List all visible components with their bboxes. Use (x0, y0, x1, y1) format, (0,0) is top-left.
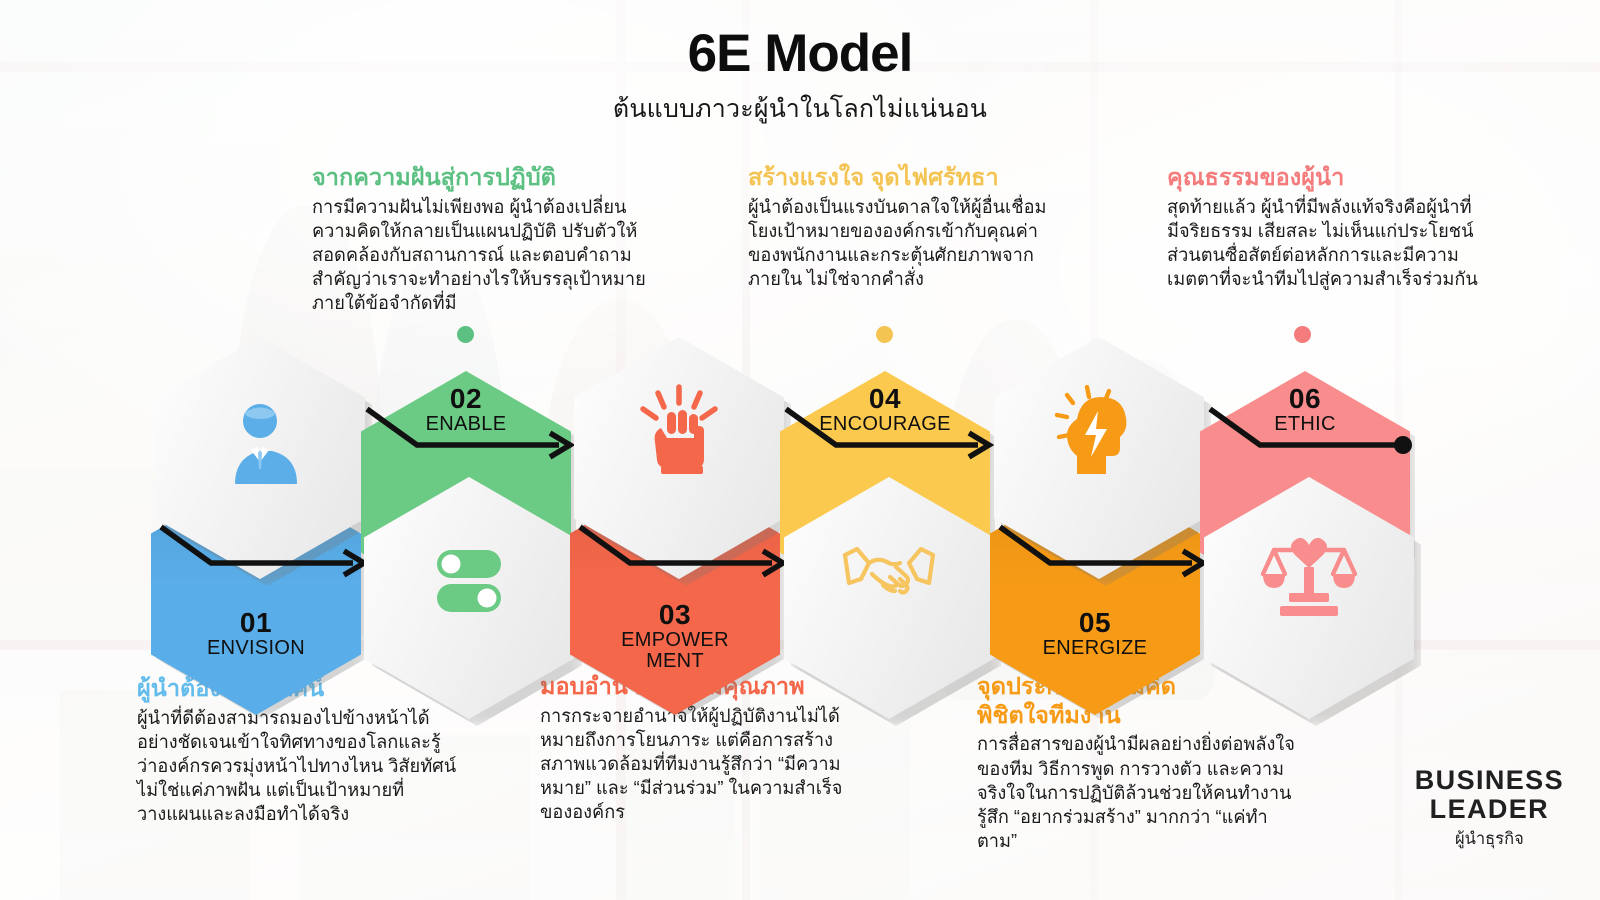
hex-04-name: ENCOURAGE (780, 414, 990, 435)
hex-01-label: 01 ENVISION (151, 609, 361, 659)
dot-02 (457, 326, 474, 343)
heart-scales-icon (1204, 529, 1414, 617)
dot-04 (876, 326, 893, 343)
text-body-02: การมีความฝันไม่เพียงพอ ผู้นำต้องเปลี่ยนค… (312, 195, 660, 316)
hex-03-name: EMPOWER (570, 630, 780, 651)
page-subtitle: ต้นแบบภาวะผู้นำในโลกไม่แน่นอน (0, 89, 1600, 129)
infographic-canvas: 6E Model ต้นแบบภาวะผู้นำในโลกไม่แน่นอน จ… (0, 0, 1600, 900)
text-body-04: ผู้นำต้องเป็นแรงบันดาลใจให้ผู้อื่นเชื่อม… (748, 195, 1070, 292)
title-block: 6E Model ต้นแบบภาวะผู้นำในโลกไม่แน่นอน (0, 26, 1600, 129)
logo-line-3: ผู้นำธุรกิจ (1415, 826, 1564, 852)
text-body-03: การกระจายอำนาจให้ผู้ปฏิบัติงานไม่ได้หมาย… (540, 704, 858, 825)
text-block-06: คุณธรรมของผู้นำ สุดท้ายแล้ว ผู้นำที่มีพล… (1167, 163, 1479, 291)
hex-03-number: 03 (570, 601, 780, 630)
text-heading-04: สร้างแรงใจ จุดไฟศรัทธา (748, 163, 1070, 192)
text-body-05: การสื่อสารของผู้นำมีผลอย่างยิ่งต่อพลังใจ… (977, 732, 1295, 853)
toggle-switches-icon (364, 532, 574, 616)
logo-line-2: LEADER (1415, 795, 1564, 824)
hex-03-label: 03 EMPOWER MENT (570, 601, 780, 672)
businessman-icon (155, 400, 365, 484)
hex-02-name: ENABLE (361, 414, 571, 435)
text-heading-02: จากความฝันสู่การปฏิบัติ (312, 163, 660, 192)
page-title: 6E Model (0, 26, 1600, 82)
text-block-02: จากความฝันสู่การปฏิบัติ การมีความฝันไม่เ… (312, 163, 660, 316)
handshake-icon (784, 539, 994, 601)
hex-06-name: ETHIC (1200, 414, 1410, 435)
hex-05-number: 05 (990, 609, 1200, 638)
text-block-05: จุดประกายความคิด พิชิตใจทีมงาน การสื่อสา… (977, 672, 1295, 853)
text-body-01: ผู้นำที่ดีต้องสามารถมองไปข้างหน้าได้อย่า… (137, 706, 457, 827)
text-body-06: สุดท้ายแล้ว ผู้นำที่มีพลังแท้จริงคือผู้น… (1167, 195, 1479, 292)
hex-01-number: 01 (151, 609, 361, 638)
dot-06 (1294, 326, 1311, 343)
raised-fist-icon (574, 384, 784, 480)
lightbulb-head-icon (994, 385, 1204, 477)
hex-01-name: ENVISION (151, 638, 361, 659)
text-block-04: สร้างแรงใจ จุดไฟศรัทธา ผู้นำต้องเป็นแรงบ… (748, 163, 1070, 291)
hex-05-label: 05 ENERGIZE (990, 609, 1200, 659)
hex-05-name: ENERGIZE (990, 638, 1200, 659)
hex-03-name-line2: MENT (570, 651, 780, 672)
brand-logo: BUSINESS LEADER ผู้นำธุรกิจ (1415, 766, 1564, 852)
logo-line-1: BUSINESS (1415, 766, 1564, 795)
text-heading-06: คุณธรรมของผู้นำ (1167, 163, 1479, 192)
